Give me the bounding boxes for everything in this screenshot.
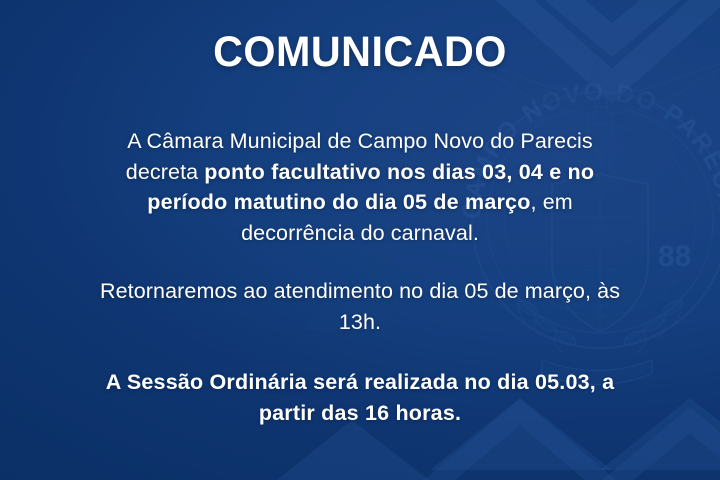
paragraph-sessao: A Sessão Ordinária será realizada no dia… — [90, 367, 630, 428]
emphasis-text: ponto facultativo nos dias 03, 04 e no p… — [147, 160, 594, 215]
emphasis-text: A Sessão Ordinária será realizada no dia… — [106, 370, 615, 425]
page-title: COMUNICADO — [213, 31, 507, 74]
comunicado-poster: CAMPO NOVO DO PARECIS — [0, 0, 720, 480]
regular-text: Retornaremos ao atendimento no dia 05 de… — [100, 279, 620, 334]
paragraph-decreto: A Câmara Municipal de Campo Novo do Pare… — [90, 126, 630, 248]
poster-content: COMUNICADO A Câmara Municipal de Campo N… — [0, 0, 720, 480]
paragraph-retorno: Retornaremos ao atendimento no dia 05 de… — [90, 276, 630, 337]
announcement-body: A Câmara Municipal de Campo Novo do Pare… — [90, 126, 630, 428]
